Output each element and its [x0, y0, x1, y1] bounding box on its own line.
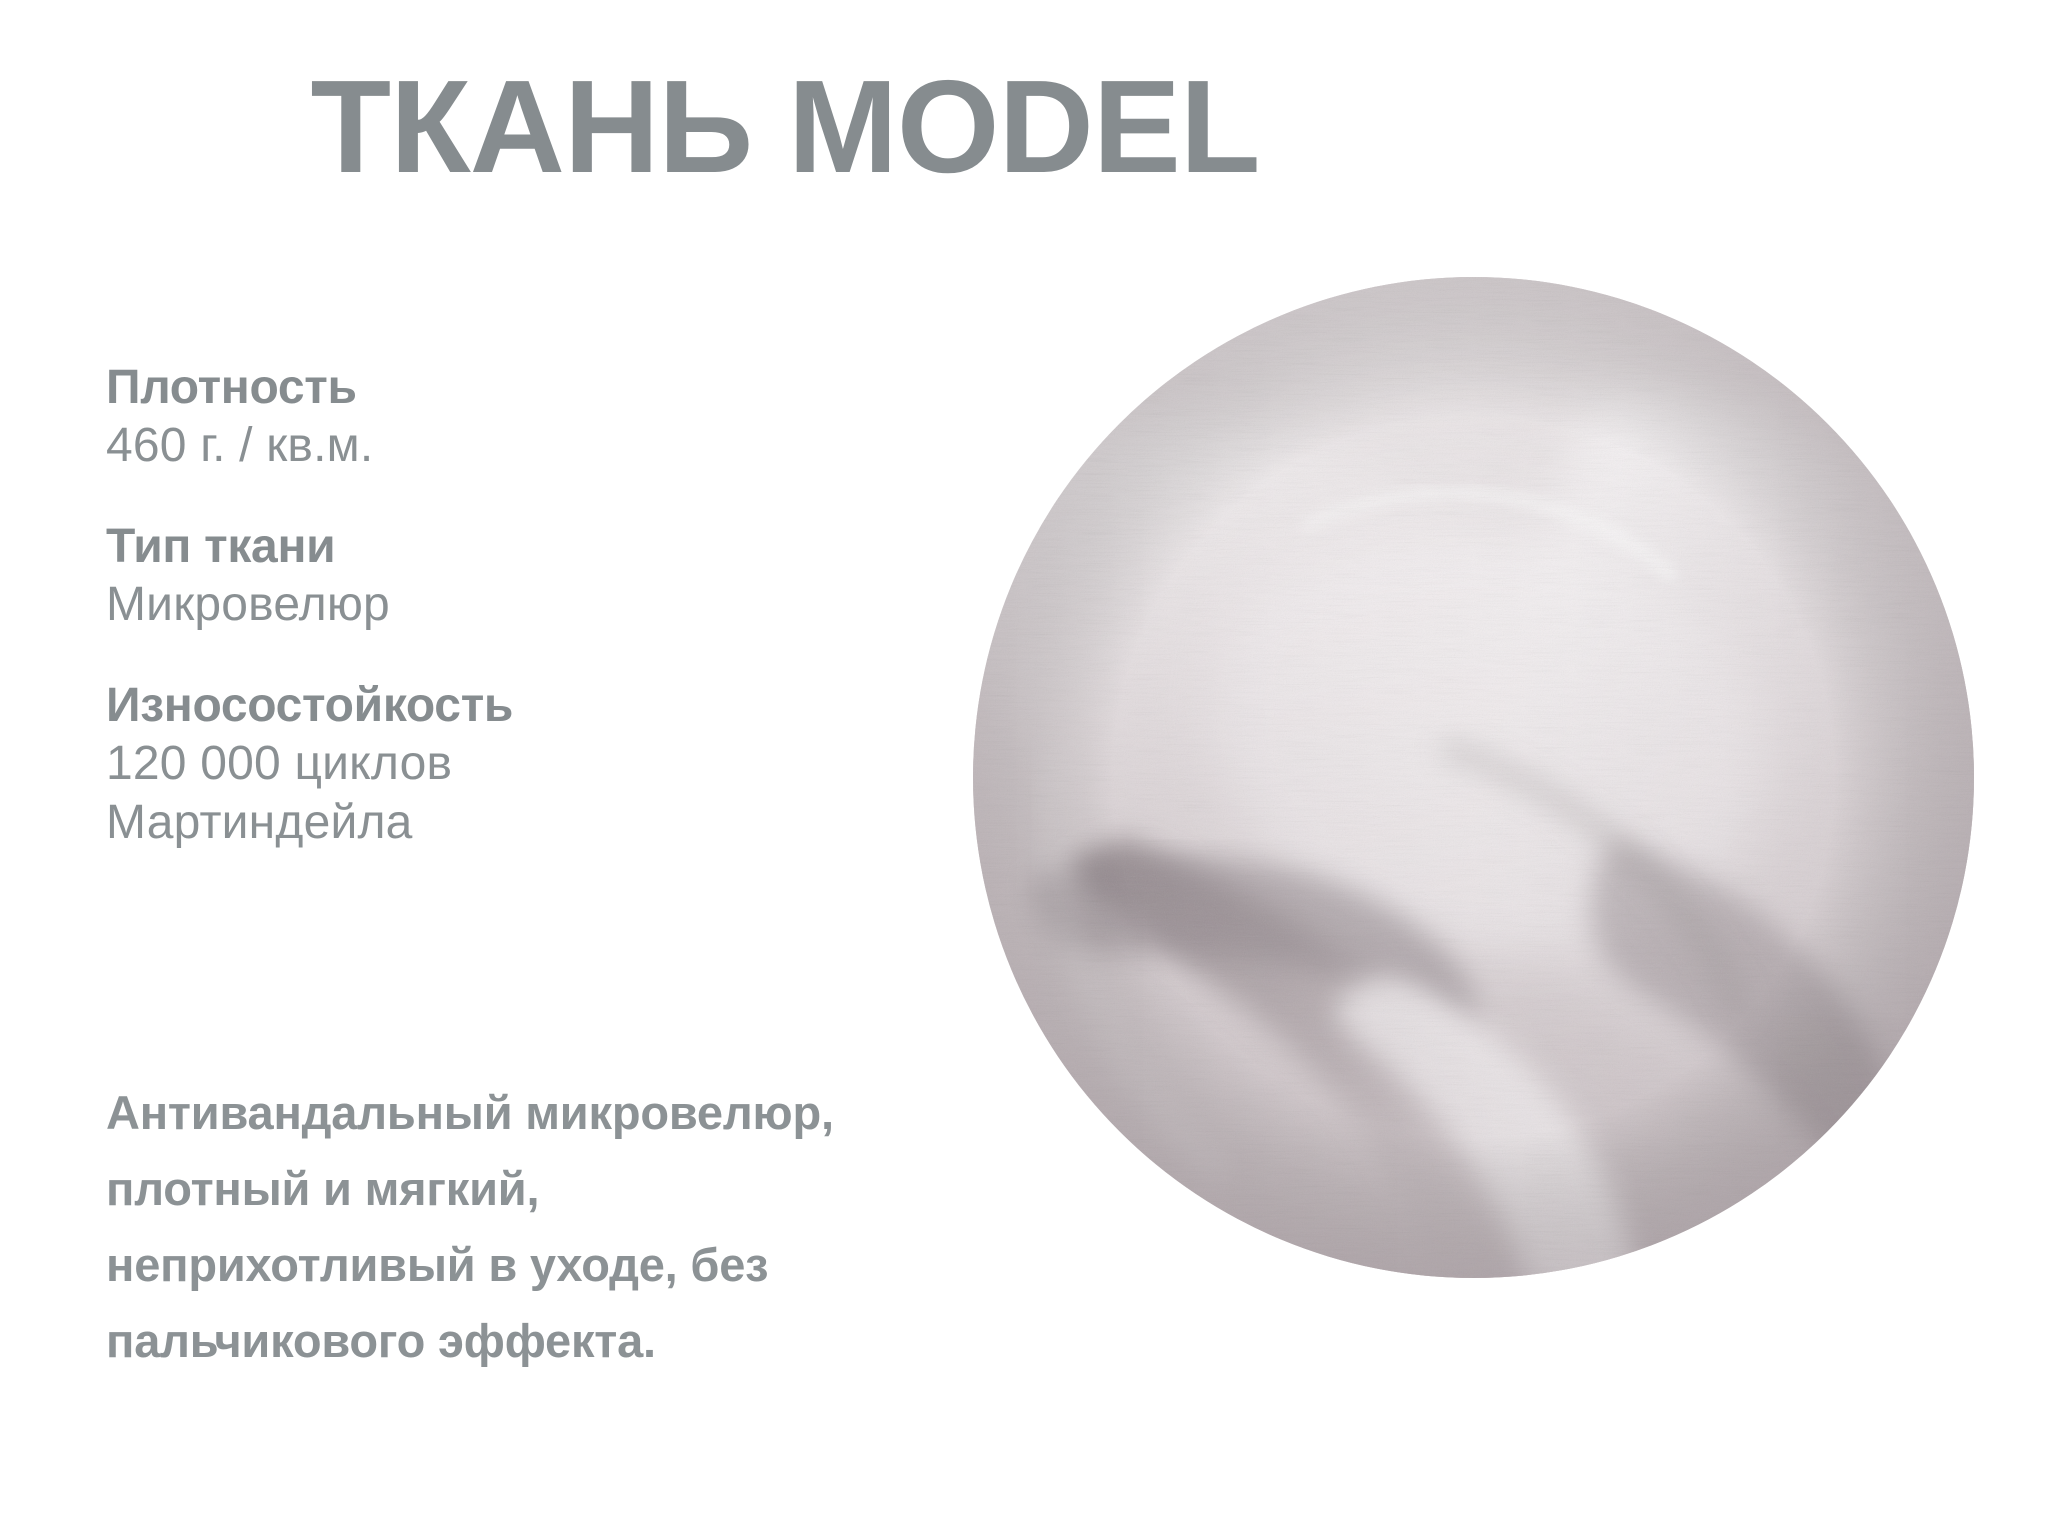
spec-durability-value: 120 000 циклов [106, 735, 1006, 794]
description-line-1: Антивандальный микровелюр, [106, 1075, 1006, 1151]
description-line-3: неприхотливый в уходе, без [106, 1227, 1006, 1303]
spec-durability: Износостойкость 120 000 циклов Мартиндей… [106, 678, 1006, 852]
spec-fabric-type: Тип ткани Микровелюр [106, 519, 1006, 634]
description-line-4: пальчикового эффекта. [106, 1303, 1006, 1379]
description-line-2: плотный и мягкий, [106, 1151, 1006, 1227]
spec-density-value: 460 г. / кв.м. [106, 417, 1006, 476]
fabric-swatch-microvelour [973, 277, 1974, 1278]
spec-durability-value-secondary: Мартиндейла [106, 794, 1006, 853]
specs-list: Плотность 460 г. / кв.м. Тип ткани Микро… [106, 360, 1006, 852]
spec-density-label: Плотность [106, 360, 1006, 417]
page-title: ТКАНЬ MODEL [0, 56, 1570, 199]
spec-fabric-type-label: Тип ткани [106, 519, 1006, 576]
spec-durability-label: Износостойкость [106, 678, 1006, 735]
spec-fabric-type-value: Микровелюр [106, 576, 1006, 635]
spec-density: Плотность 460 г. / кв.м. [106, 360, 1006, 475]
description-paragraph: Антивандальный микровелюр, плотный и мяг… [106, 1075, 1006, 1380]
